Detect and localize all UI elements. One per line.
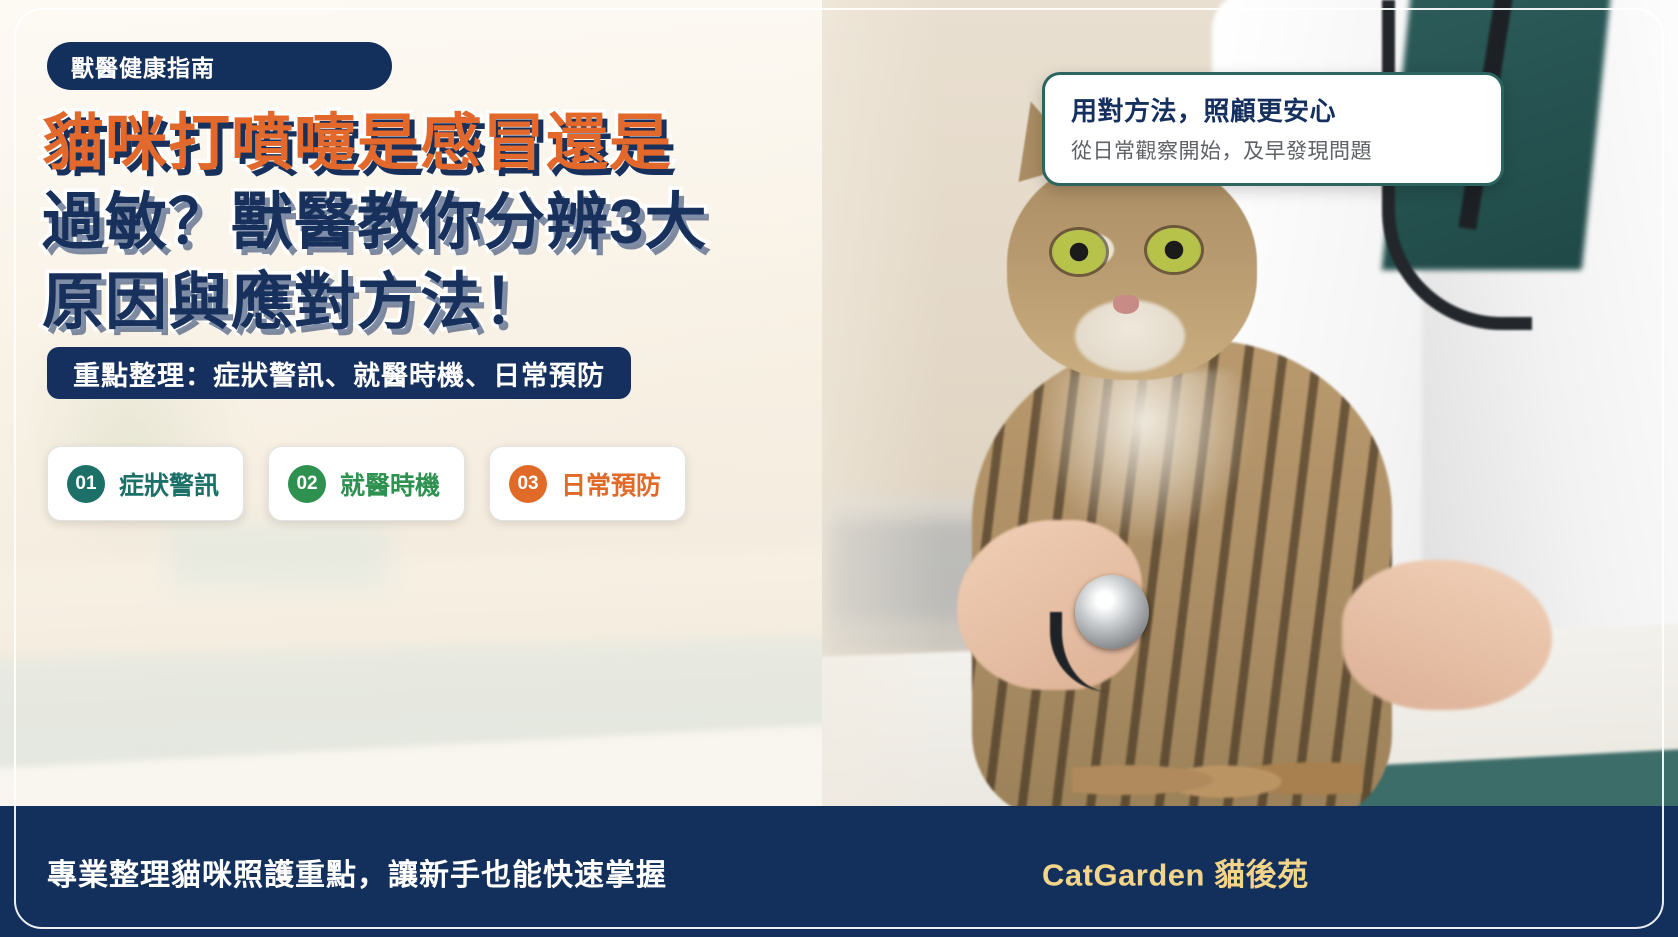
headline-line-3: 原因與應對方法！ xyxy=(42,263,812,342)
topic-number-badge-03: 03 xyxy=(509,465,547,503)
footer-tagline: 專業整理貓咪照護重點，讓新手也能快速掌握 xyxy=(47,850,667,894)
topic-card-02[interactable]: 02 就醫時機 xyxy=(268,446,465,521)
category-badge: 獸醫健康指南 xyxy=(47,42,392,90)
footer-bar: 專業整理貓咪照護重點，讓新手也能快速掌握 CatGarden 貓後苑 xyxy=(0,806,1678,937)
topic-label-03: 日常預防 xyxy=(561,466,661,502)
topic-card-01[interactable]: 01 症狀警訊 xyxy=(47,446,244,521)
callout-card: 用對方法，照顧更安心 從日常觀察開始，及早發現問題 xyxy=(1042,72,1504,186)
topic-label-02: 就醫時機 xyxy=(340,466,440,502)
poster-canvas: 獸醫健康指南 貓咪打噴嚏是感冒還是 過敏？獸醫教你分辨3大 原因與應對方法！ 重… xyxy=(0,0,1678,937)
headline-line-1: 貓咪打噴嚏是感冒還是 xyxy=(42,104,812,183)
callout-subtitle: 從日常觀察開始，及早發現問題 xyxy=(1071,135,1479,165)
topic-number-badge-02: 02 xyxy=(288,465,326,503)
page-title: 貓咪打噴嚏是感冒還是 過敏？獸醫教你分辨3大 原因與應對方法！ xyxy=(42,104,812,342)
topic-card-list: 01 症狀警訊 02 就醫時機 03 日常預防 xyxy=(47,446,686,521)
topic-card-03[interactable]: 03 日常預防 xyxy=(489,446,686,521)
topic-number-badge-01: 01 xyxy=(67,465,105,503)
summary-bar: 重點整理：症狀警訊、就醫時機、日常預防 xyxy=(47,347,631,399)
topic-label-01: 症狀警訊 xyxy=(119,466,219,502)
callout-title: 用對方法，照顧更安心 xyxy=(1071,91,1479,128)
left-content: 獸醫健康指南 貓咪打噴嚏是感冒還是 過敏？獸醫教你分辨3大 原因與應對方法！ 重… xyxy=(0,0,824,806)
headline-line-2: 過敏？獸醫教你分辨3大 xyxy=(42,183,812,262)
footer-brand: CatGarden 貓後苑 xyxy=(1042,849,1309,894)
